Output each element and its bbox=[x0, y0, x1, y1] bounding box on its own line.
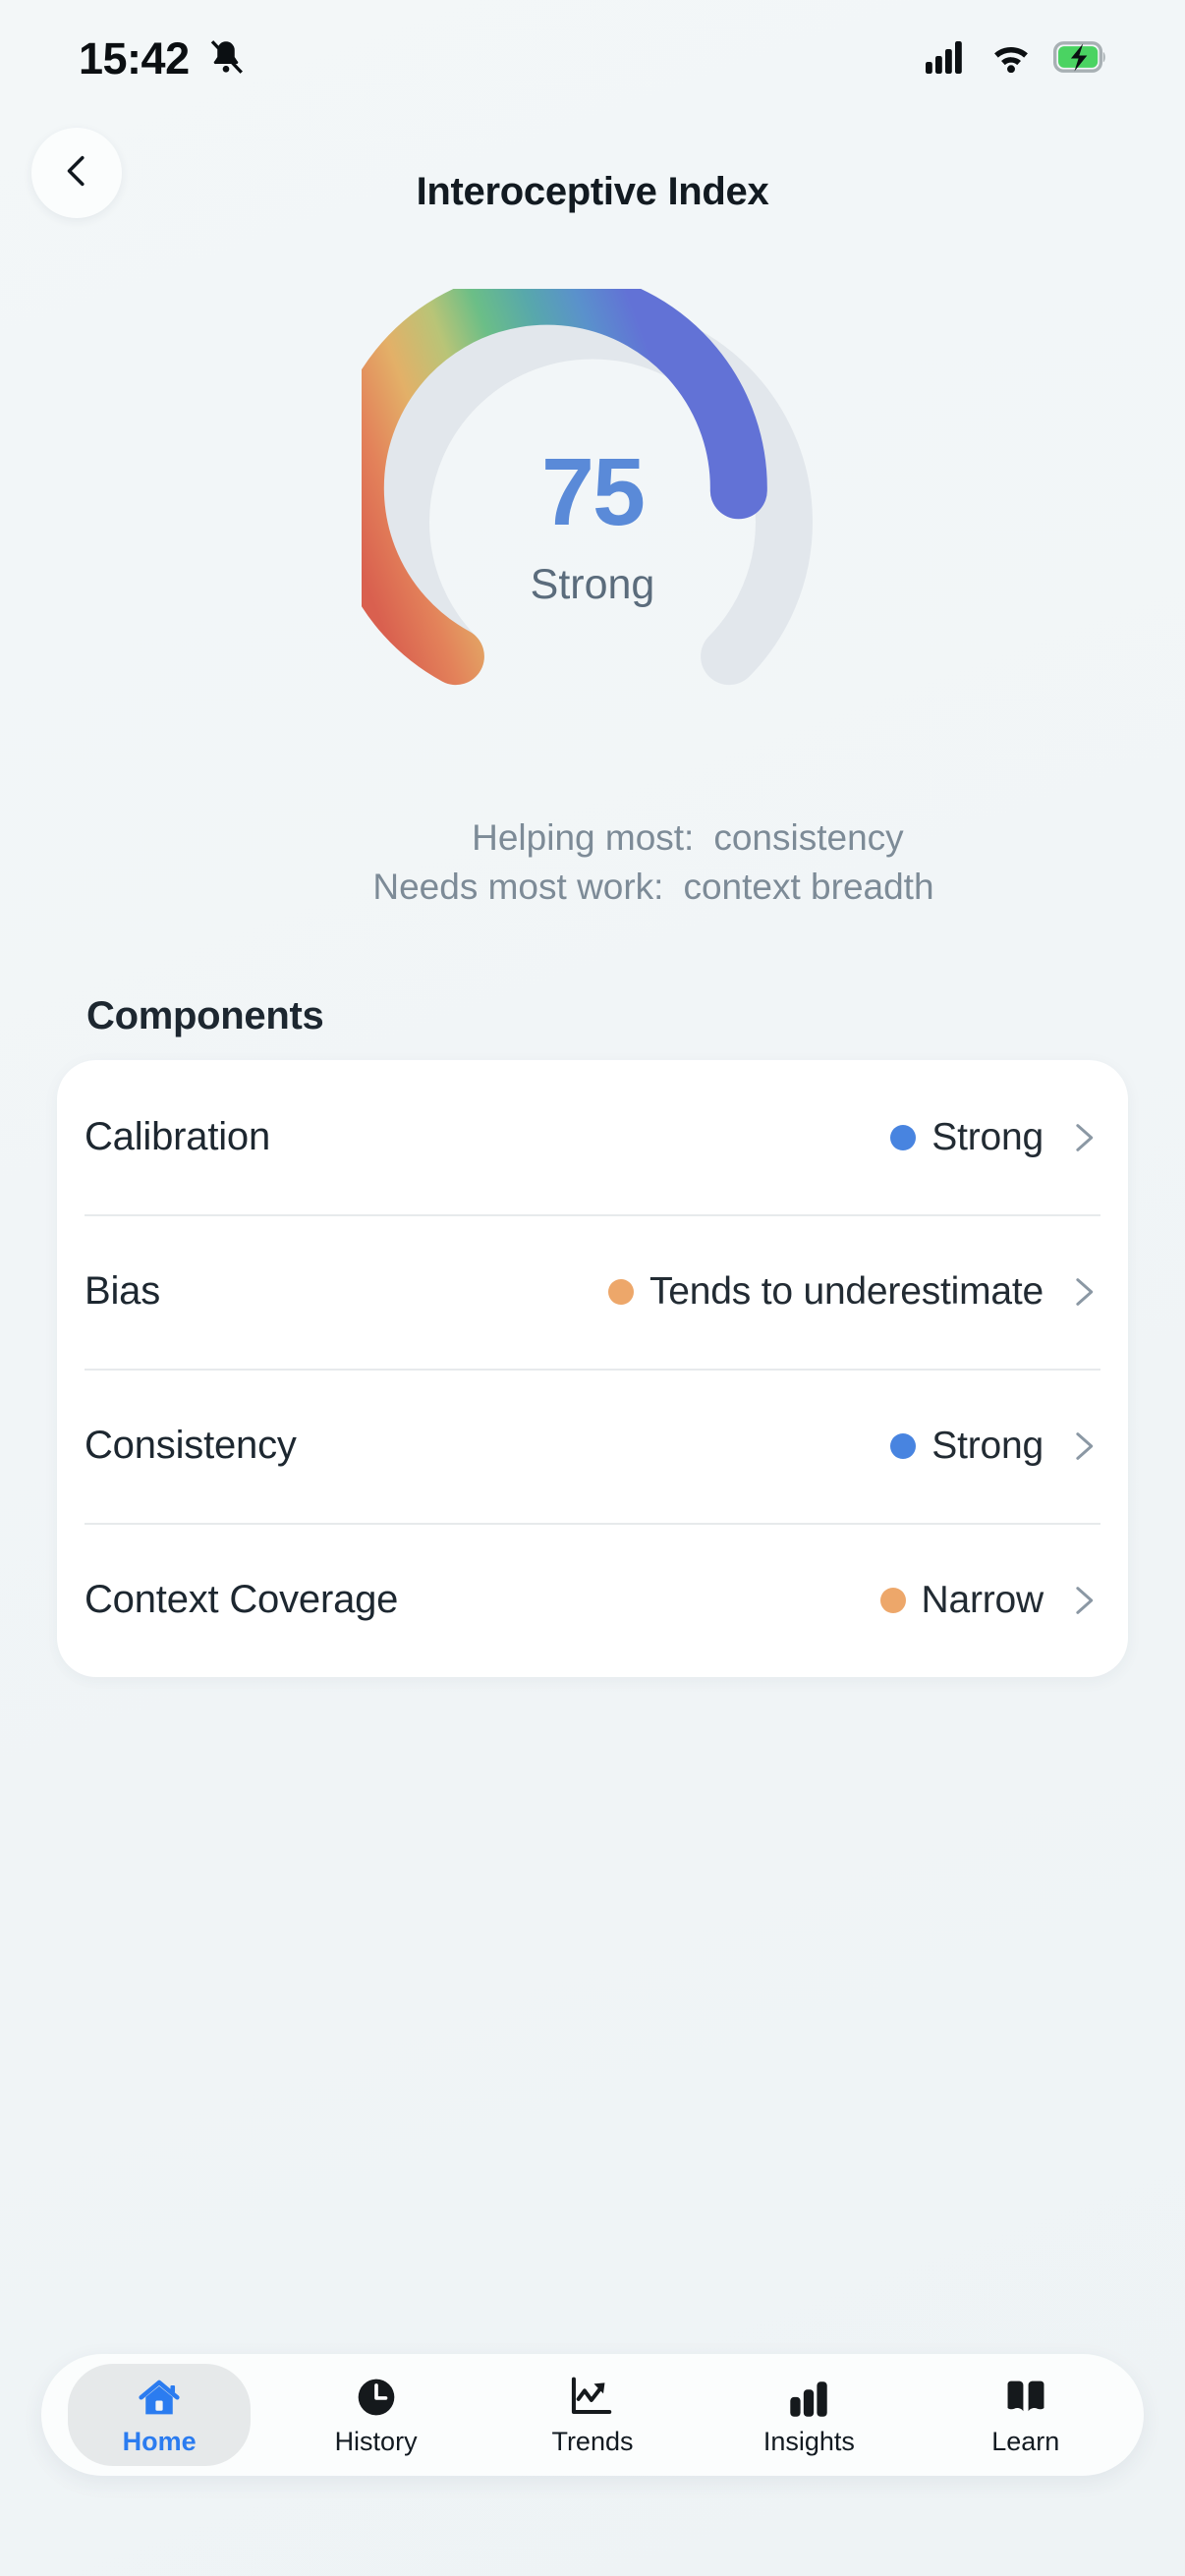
tab-insights[interactable]: Insights bbox=[717, 2364, 900, 2466]
tab-label: Insights bbox=[763, 2427, 855, 2457]
tab-history[interactable]: History bbox=[285, 2364, 468, 2466]
status-bar-left: 15:42 bbox=[79, 33, 247, 84]
bar-chart-icon bbox=[786, 2374, 831, 2419]
wifi-icon bbox=[990, 41, 1032, 78]
cellular-signal-icon bbox=[926, 40, 969, 79]
components-card: Calibration Strong Bias Tends to underes… bbox=[57, 1060, 1128, 1677]
component-label: Bias bbox=[85, 1269, 160, 1314]
component-row-context-coverage[interactable]: Context Coverage Narrow bbox=[57, 1523, 1128, 1677]
chevron-right-icon bbox=[1069, 1121, 1099, 1154]
bell-muted-icon bbox=[205, 36, 247, 83]
chevron-right-icon bbox=[1069, 1584, 1099, 1617]
component-status-group: Strong bbox=[890, 1116, 1099, 1159]
component-status: Strong bbox=[931, 1425, 1044, 1468]
status-dot-icon bbox=[608, 1279, 634, 1305]
tab-label: Trends bbox=[551, 2427, 633, 2457]
components-section-title: Components bbox=[86, 994, 1185, 1038]
component-status-group: Tends to underestimate bbox=[608, 1270, 1099, 1314]
tab-trends[interactable]: Trends bbox=[501, 2364, 684, 2466]
summary-value: context breadth bbox=[683, 867, 933, 908]
status-dot-icon bbox=[890, 1125, 916, 1150]
status-dot-icon bbox=[890, 1433, 916, 1459]
component-row-bias[interactable]: Bias Tends to underestimate bbox=[57, 1214, 1128, 1369]
tab-label: Learn bbox=[991, 2427, 1059, 2457]
component-label: Calibration bbox=[85, 1115, 270, 1159]
page-title: Interoceptive Index bbox=[0, 170, 1185, 214]
component-status: Strong bbox=[931, 1116, 1044, 1159]
open-book-icon bbox=[1002, 2374, 1049, 2419]
chevron-right-icon bbox=[1069, 1275, 1099, 1309]
tab-label: History bbox=[335, 2427, 418, 2457]
component-label: Context Coverage bbox=[85, 1578, 398, 1622]
summary-key: Needs most work: bbox=[251, 867, 663, 908]
status-bar: 15:42 bbox=[0, 0, 1185, 118]
page-header: Interoceptive Index bbox=[0, 118, 1185, 265]
component-status-group: Narrow bbox=[880, 1579, 1099, 1622]
status-dot-icon bbox=[880, 1588, 906, 1613]
tab-learn[interactable]: Learn bbox=[934, 2364, 1117, 2466]
component-row-consistency[interactable]: Consistency Strong bbox=[57, 1369, 1128, 1523]
chevron-left-icon bbox=[57, 151, 96, 196]
component-label: Consistency bbox=[85, 1424, 297, 1468]
clock-icon bbox=[355, 2374, 398, 2419]
summary-key: Helping most: bbox=[281, 817, 694, 859]
tab-label: Home bbox=[123, 2427, 197, 2457]
gauge-arc bbox=[362, 289, 823, 751]
component-status-group: Strong bbox=[890, 1425, 1099, 1468]
back-button[interactable] bbox=[31, 128, 122, 218]
bottom-tab-bar: Home History Trends Ins bbox=[41, 2354, 1144, 2476]
gauge-summary: Helping most: consistency Needs most wor… bbox=[0, 817, 1185, 908]
chevron-right-icon bbox=[1069, 1429, 1099, 1463]
home-icon bbox=[137, 2374, 182, 2419]
battery-charging-icon bbox=[1053, 40, 1108, 79]
tab-home[interactable]: Home bbox=[68, 2364, 251, 2466]
component-status: Narrow bbox=[922, 1579, 1044, 1622]
summary-row-needs-most-work: Needs most work: context breadth bbox=[251, 867, 933, 908]
line-chart-up-icon bbox=[569, 2374, 616, 2419]
status-time: 15:42 bbox=[79, 33, 190, 84]
summary-row-helping-most: Helping most: consistency bbox=[281, 817, 903, 859]
component-status: Tends to underestimate bbox=[649, 1270, 1044, 1314]
summary-value: consistency bbox=[713, 817, 903, 859]
component-row-calibration[interactable]: Calibration Strong bbox=[57, 1060, 1128, 1214]
interoceptive-index-gauge: 75 Strong bbox=[0, 279, 1185, 760]
status-bar-right bbox=[926, 40, 1108, 79]
